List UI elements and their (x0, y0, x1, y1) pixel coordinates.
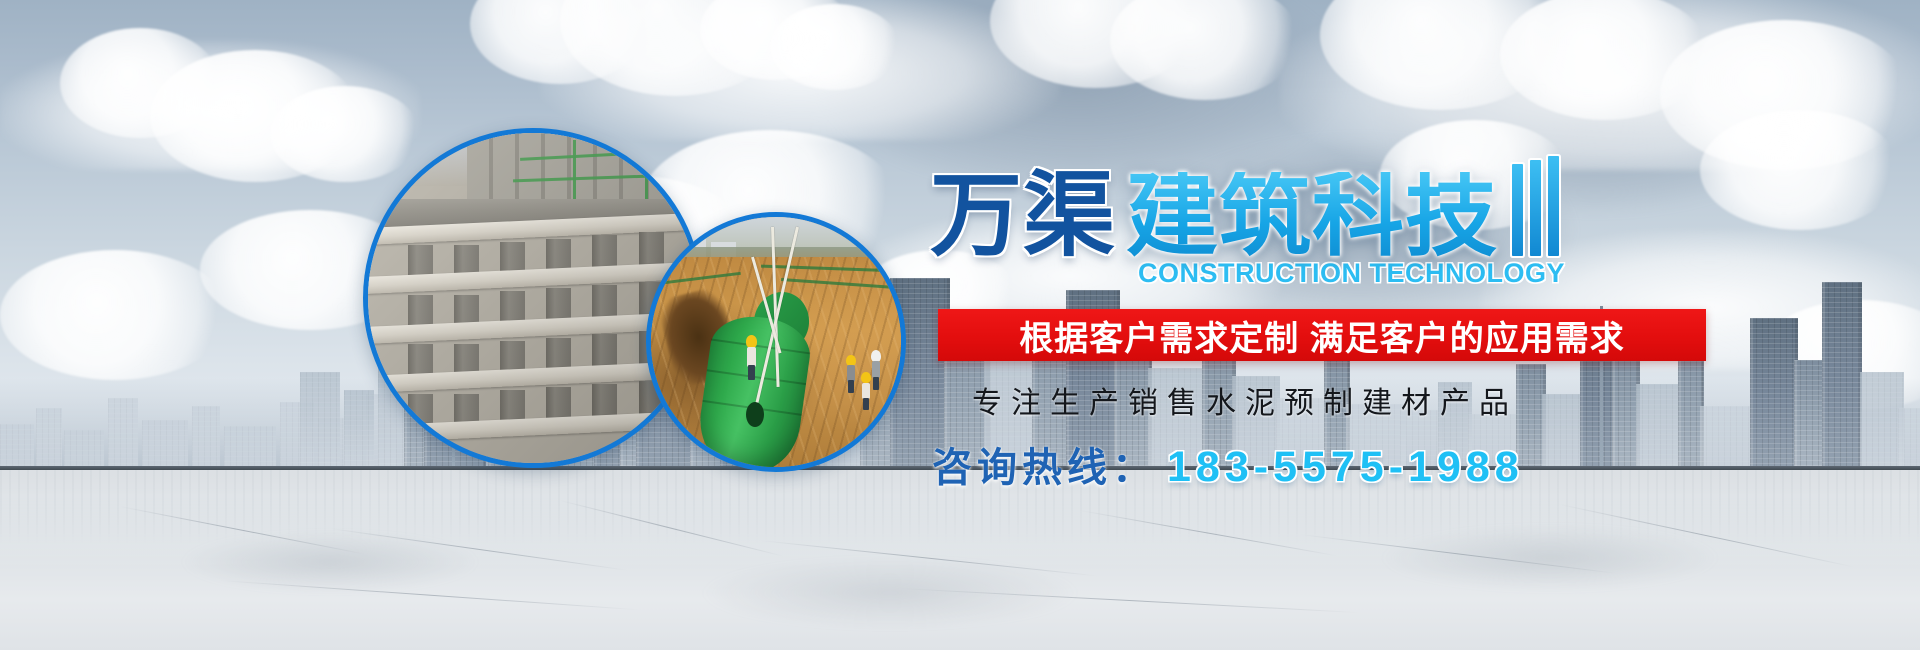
hotline-number[interactable]: 183-5575-1988 (1167, 443, 1524, 492)
brand-title-row: 万渠 建筑科技 (930, 150, 1630, 260)
marketing-copy-block: 万渠 建筑科技 CONSTRUCTION TECHNOLOGY 根据客户需求定制… (930, 150, 1630, 493)
brand-name-primary: 万渠 (930, 172, 1116, 260)
slogan-text: 根据客户需求定制 满足客户的应用需求 (1019, 311, 1624, 360)
hotline-label: 咨询热线： (932, 435, 1157, 493)
septic-tank-installation-image (651, 217, 901, 467)
hotline-row: 咨询热线： 183-5575-1988 (932, 435, 1630, 493)
precast-concrete-slabs-image (368, 133, 698, 463)
accent-bars-icon (1512, 156, 1559, 256)
brand-name-secondary: 建筑科技 (1126, 172, 1498, 260)
tagline-text: 专注生产销售水泥预制建材产品 (972, 378, 1630, 422)
reflective-ground (0, 470, 1920, 650)
company-hero-banner: 万渠 建筑科技 CONSTRUCTION TECHNOLOGY 根据客户需求定制… (0, 0, 1920, 650)
slogan-banner: 根据客户需求定制 满足客户的应用需求 (938, 309, 1706, 361)
photo-circle-tank-installation (646, 212, 906, 472)
